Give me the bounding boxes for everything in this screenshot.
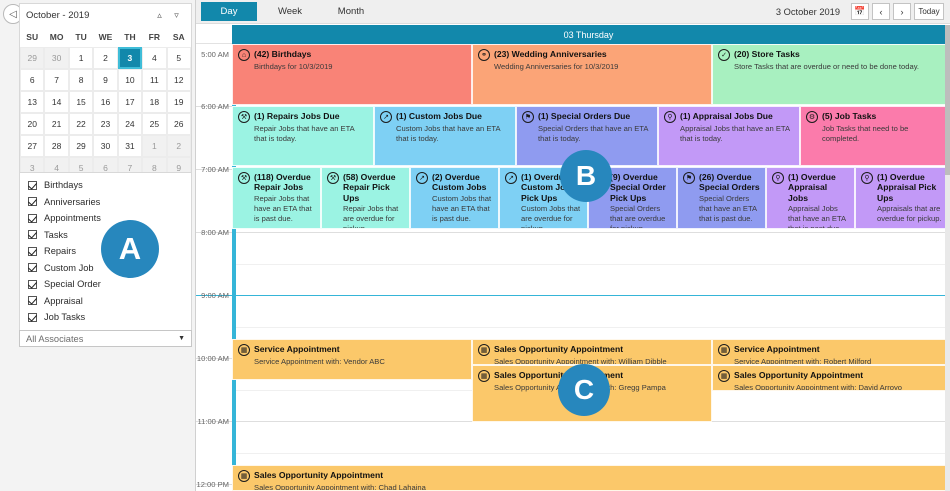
event-title: Service Appointment [734,344,820,354]
mini-calendar-day[interactable]: 28 [44,135,68,157]
hour-label: 5:00 AM [196,50,229,59]
mini-calendar-day[interactable]: 26 [167,113,191,135]
checkbox-icon[interactable] [28,263,37,272]
filter-item-special-order[interactable]: Special Order [20,276,191,293]
mini-calendar-day[interactable]: 1 [142,135,166,157]
appointment-icon: ▦ [718,370,730,382]
mini-calendar-dow-su: SU [20,27,44,47]
time-gutter-header [196,25,232,44]
mini-calendar-day[interactable]: 2 [167,135,191,157]
event-subtitle: Custom Jobs that are overdue for pickup. [521,204,582,229]
event-subtitle: Custom Jobs that have an ETA that is tod… [396,124,510,144]
hour-label: 11:00 AM [196,417,229,426]
hour-label: 10:00 AM [196,354,229,363]
mini-calendar-day[interactable]: 24 [118,113,142,135]
mini-calendar-day[interactable]: 27 [20,135,44,157]
gift-icon: ⚑ [522,111,534,123]
checkbox-icon[interactable] [28,214,37,223]
event-header: ↗(2) Overdue Custom Jobs [416,172,493,193]
mini-calendar-day[interactable]: 8 [69,69,93,91]
event-subtitle: Sales Opportunity Appointment with: Will… [494,357,706,365]
mini-calendar-day[interactable]: 14 [44,91,68,113]
event-title: Sales Opportunity Appointment [494,344,623,354]
event-header: ▦Sales Opportunity Appointment [718,370,944,382]
event-header: ▦Service Appointment [238,344,466,356]
annotation-badge-b: B [560,150,612,202]
event-title: (1) Custom Jobs Due [396,111,482,121]
mini-calendar-day[interactable]: 9 [93,69,117,91]
event-title: (1) Overdue Appraisal Jobs [788,172,849,203]
mini-calendar-dow-tu: TU [69,27,93,47]
mini-calendar-day[interactable]: 10 [118,69,142,91]
calendar-event[interactable]: ⌂(42) BirthdaysBirthdays for 10/3/2019 [232,44,472,105]
filter-item-label: Custom Job [44,263,94,273]
magnifier-icon: ⚲ [772,172,784,184]
mini-calendar-day[interactable]: 11 [142,69,166,91]
filter-item-label: Anniversaries [44,197,100,207]
checkbox-icon[interactable] [28,296,37,305]
mini-calendar-day[interactable]: 20 [20,113,44,135]
chevron-left-icon: ◁ [9,9,17,20]
tab-month[interactable]: Month [323,2,379,21]
calendar-event[interactable]: ▦Service AppointmentService Appointment … [712,339,950,365]
appointment-icon: ▦ [478,344,490,356]
left-panel: ◁ October - 2019 ▵ ▿ SUMOTUWETHFRSA 2930… [0,0,196,491]
event-header: ⚲(1) Overdue Appraisal Jobs [772,172,849,203]
mini-calendar-dow-mo: MO [44,27,68,47]
mini-calendar-header: October - 2019 ▵ ▿ [20,4,191,27]
calendar-event[interactable]: ⚒(1) Repairs Jobs DueRepair Jobs that ha… [232,106,374,166]
event-subtitle: Store Tasks that are overdue or need to … [734,62,944,72]
hour-label: 9:00 AM [196,291,229,300]
mini-calendar-day[interactable]: 4 [142,47,166,69]
mini-calendar-dow-row: SUMOTUWETHFRSA [20,27,191,47]
event-subtitle: Service Appointment with: Vendor ABC [254,357,466,367]
checkbox-icon[interactable] [28,197,37,206]
birthday-cake-icon: ⌂ [238,49,250,61]
calendar-event[interactable]: ⚒(58) Overdue Repair Pick UpsRepair Jobs… [321,167,410,229]
event-header: ↗(1) Custom Jobs Due [380,111,510,123]
event-header: ⚒(118) Overdue Repair Jobs [238,172,315,193]
mini-calendar-day[interactable]: 29 [20,47,44,69]
day-header[interactable]: 03 Thursday [232,25,945,44]
mini-calendar-day[interactable]: 12 [167,69,191,91]
chevron-up-icon[interactable]: ▵ [151,10,168,21]
mini-calendar-dow-th: TH [118,27,142,47]
filter-item-birthdays[interactable]: Birthdays [20,177,191,194]
event-title: (2) Overdue Custom Jobs [432,172,493,193]
event-subtitle: Repair Jobs that have an ETA that is tod… [254,124,368,144]
calendar-grid: 5:00 AM6:00 AM7:00 AM8:00 AM9:00 AM10:00… [196,44,950,491]
calendar-event[interactable]: ▦Sales Opportunity AppointmentSales Oppo… [712,365,950,391]
today-button[interactable]: Today [914,3,944,20]
calendar-event[interactable]: ⚒(118) Overdue Repair JobsRepair Jobs th… [232,167,321,229]
mini-calendar-day[interactable]: 25 [142,113,166,135]
mini-calendar-day-selected[interactable]: 3 [118,47,142,69]
hammer-icon: ↗ [416,172,428,184]
event-subtitle: Sales Opportunity Appointment with: Chad… [254,483,944,491]
event-title: Sales Opportunity Appointment [734,370,863,380]
half-hour-divider [232,264,950,265]
toolbar-right: 3 October 2019 📅 ‹ › Today [776,3,950,20]
calendar-event[interactable]: ⚑(26) Overdue Special OrdersSpecial Orde… [677,167,766,229]
wrench-icon: ⚒ [327,172,339,184]
half-hour-divider [232,453,950,454]
mini-calendar-day[interactable]: 18 [142,91,166,113]
mini-calendar-day[interactable]: 23 [93,113,117,135]
event-header: ▦Sales Opportunity Appointment [238,470,944,482]
filter-item-label: Birthdays [44,180,83,190]
mini-calendar-day[interactable]: 7 [44,69,68,91]
scrollbar-thumb[interactable] [945,25,950,175]
filter-item-label: Tasks [44,230,68,240]
event-title: (1) Repairs Jobs Due [254,111,339,121]
calendar-toolbar: DayWeekMonth 3 October 2019 📅 ‹ › Today [196,0,950,24]
event-subtitle: Sales Opportunity Appointment with: Davi… [734,383,944,391]
event-subtitle: Custom Jobs that have an ETA that is pas… [432,194,493,224]
filter-item-label: Special Order [44,279,101,289]
mini-calendar-day[interactable]: 30 [93,135,117,157]
magnifier-icon: ⚲ [664,111,676,123]
checkbox-icon[interactable] [28,181,37,190]
event-title: (23) Wedding Anniversaries [494,49,607,59]
next-day-button[interactable]: › [893,3,911,20]
event-title: (118) Overdue Repair Jobs [254,172,315,193]
event-title: (1) Appraisal Jobs Due [680,111,773,121]
tools-icon: ⚙ [806,111,818,123]
tab-day[interactable]: Day [201,2,257,21]
calendar-event[interactable]: ✓(20) Store TasksStore Tasks that are ov… [712,44,950,105]
event-subtitle: Special Orders that have an ETA that is … [538,124,652,144]
annotation-badge-a: A [101,220,159,278]
event-title: (58) Overdue Repair Pick Ups [343,172,404,203]
mini-calendar-day[interactable]: 2 [93,47,117,69]
hammer-icon: ↗ [380,111,392,123]
associate-select-value: All Associates [26,334,83,344]
check-circle-icon: ✓ [718,49,730,61]
mini-calendar-day[interactable]: 1 [69,47,93,69]
event-subtitle: Special Orders that are overdue for pick… [610,204,671,229]
mini-calendar-day[interactable]: 29 [69,135,93,157]
event-header: ⚲(1) Appraisal Jobs Due [664,111,794,123]
mini-calendar-day[interactable]: 31 [118,135,142,157]
wrench-icon: ⚒ [238,111,250,123]
event-header: ⚲(1) Overdue Appraisal Pick Ups [861,172,944,203]
date-picker-button[interactable]: 📅 [851,3,869,20]
mini-calendar-days: 2930123456789101112131415161718192021222… [20,47,191,179]
event-title: (5) Job Tasks [822,111,876,121]
event-title: (26) Overdue Special Orders [699,172,760,193]
appointment-icon: ▦ [238,470,250,482]
associate-select[interactable]: All Associates ▼ [19,330,192,347]
filter-item-label: Appraisal [44,296,83,306]
appointment-icon: ▦ [238,344,250,356]
event-subtitle: Job Tasks that need to be completed. [822,124,944,144]
checkbox-icon[interactable] [28,280,37,289]
mini-calendar-day[interactable]: 16 [93,91,117,113]
mini-calendar-title: October - 2019 [26,10,151,21]
event-subtitle: Service Appointment with: Robert Milford [734,357,944,365]
gift-icon: ⚑ [683,172,695,184]
event-header: ⚒(1) Repairs Jobs Due [238,111,368,123]
calendar-icon: 📅 [854,6,865,17]
mini-calendar-day[interactable]: 21 [44,113,68,135]
event-subtitle: Repair Jobs that have an ETA that is pas… [254,194,315,224]
calendar-app: ◁ October - 2019 ▵ ▿ SUMOTUWETHFRSA 2930… [0,0,950,491]
chevron-down-icon: ▼ [178,335,185,342]
view-tabs: DayWeekMonth [196,2,379,21]
event-subtitle: Special Orders that have an ETA that is … [699,194,760,224]
event-header: ⚑(1) Special Orders Due [522,111,652,123]
hammer-icon: ↗ [505,172,517,184]
appointment-icon: ▦ [718,344,730,356]
calendar-event[interactable]: ⚲(1) Appraisal Jobs DueAppraisal Jobs th… [658,106,800,166]
rings-icon: ⚭ [478,49,490,61]
event-header: ▦Service Appointment [718,344,944,356]
filter-item-label: Job Tasks [44,312,85,322]
appointment-icon: ▦ [478,370,490,382]
mini-calendar-dow-we: WE [93,27,117,47]
mini-calendar: October - 2019 ▵ ▿ SUMOTUWETHFRSA 293012… [19,3,192,180]
mini-calendar-day[interactable]: 15 [69,91,93,113]
wrench-icon: ⚒ [238,172,250,184]
mini-calendar-day[interactable]: 22 [69,113,93,135]
event-subtitle: Repair Jobs that are overdue for pickup. [343,204,404,229]
hour-label: 7:00 AM [196,165,229,174]
calendar-event[interactable]: ↗(1) Custom Jobs DueCustom Jobs that hav… [374,106,516,166]
event-header: ▦Sales Opportunity Appointment [478,344,706,356]
calendar-event[interactable]: ▦Sales Opportunity AppointmentSales Oppo… [232,465,950,491]
calendar-event[interactable]: ⚭(23) Wedding AnniversariesWedding Anniv… [472,44,712,105]
prev-day-button[interactable]: ‹ [872,3,890,20]
mini-calendar-day[interactable]: 6 [20,69,44,91]
calendar-event[interactable]: ↗(2) Overdue Custom JobsCustom Jobs that… [410,167,499,229]
filter-item-appraisal[interactable]: Appraisal [20,293,191,310]
half-hour-divider [232,327,950,328]
checkbox-icon[interactable] [28,230,37,239]
checkbox-icon[interactable] [28,247,37,256]
chevron-down-icon[interactable]: ▿ [168,10,185,21]
mini-calendar-day[interactable]: 13 [20,91,44,113]
event-title: Service Appointment [254,344,340,354]
event-title: (42) Birthdays [254,49,311,59]
filter-item-label: Repairs [44,246,76,256]
event-title: (9) Overdue Special Order Pick Ups [610,172,671,203]
event-subtitle: Wedding Anniversaries for 10/3/2019 [494,62,706,72]
filter-item-anniversaries[interactable]: Anniversaries [20,194,191,211]
event-subtitle: Appraisal Jobs that have an ETA that is … [680,124,794,144]
event-header: ⌂(42) Birthdays [238,49,466,61]
event-title: (20) Store Tasks [734,49,800,59]
mini-calendar-day[interactable]: 19 [167,91,191,113]
hour-label: 8:00 AM [196,228,229,237]
hour-label: 6:00 AM [196,102,229,111]
event-title: Sales Opportunity Appointment [254,470,383,480]
hour-row[interactable]: 8:00 AM [196,233,950,296]
event-header: ✓(20) Store Tasks [718,49,944,61]
mini-calendar-day[interactable]: 30 [44,47,68,69]
mini-calendar-dow-sa: SA [167,27,191,47]
mini-calendar-day[interactable]: 5 [167,47,191,69]
tab-week[interactable]: Week [262,2,318,21]
current-date-label: 3 October 2019 [776,7,840,17]
checkbox-icon[interactable] [28,313,37,322]
magnifier-icon: ⚲ [861,172,873,184]
event-subtitle: Birthdays for 10/3/2019 [254,62,466,72]
event-header: ⚒(58) Overdue Repair Pick Ups [327,172,404,203]
event-header: ⚑(26) Overdue Special Orders [683,172,760,193]
event-subtitle: Appraisal Jobs that have an ETA that is … [788,204,849,229]
event-title: (1) Special Orders Due [538,111,630,121]
calendar-event[interactable]: ⚲(1) Overdue Appraisal JobsAppraisal Job… [766,167,855,229]
event-header: ⚭(23) Wedding Anniversaries [478,49,706,61]
filter-item-label: Appointments [44,213,101,223]
annotation-badge-c: C [558,364,610,416]
mini-calendar-day[interactable]: 17 [118,91,142,113]
filter-item-job-tasks[interactable]: Job Tasks [20,309,191,326]
calendar-event[interactable]: ⚲(1) Overdue Appraisal Pick UpsAppraisal… [855,167,950,229]
calendar-event[interactable]: ⚙(5) Job TasksJob Tasks that need to be … [800,106,950,166]
calendar-event[interactable]: ▦Sales Opportunity AppointmentSales Oppo… [472,339,712,365]
event-subtitle: Appraisals that are overdue for pickup. [877,204,944,224]
mini-calendar-dow-fr: FR [142,27,166,47]
event-title: (1) Overdue Appraisal Pick Ups [877,172,944,203]
vertical-scrollbar[interactable] [945,25,950,491]
filter-item-appointments[interactable]: Appointments [20,210,191,227]
event-header: ⚙(5) Job Tasks [806,111,944,123]
calendar-event[interactable]: ▦Service AppointmentService Appointment … [232,339,472,380]
hour-label: 12:00 PM [196,480,229,489]
